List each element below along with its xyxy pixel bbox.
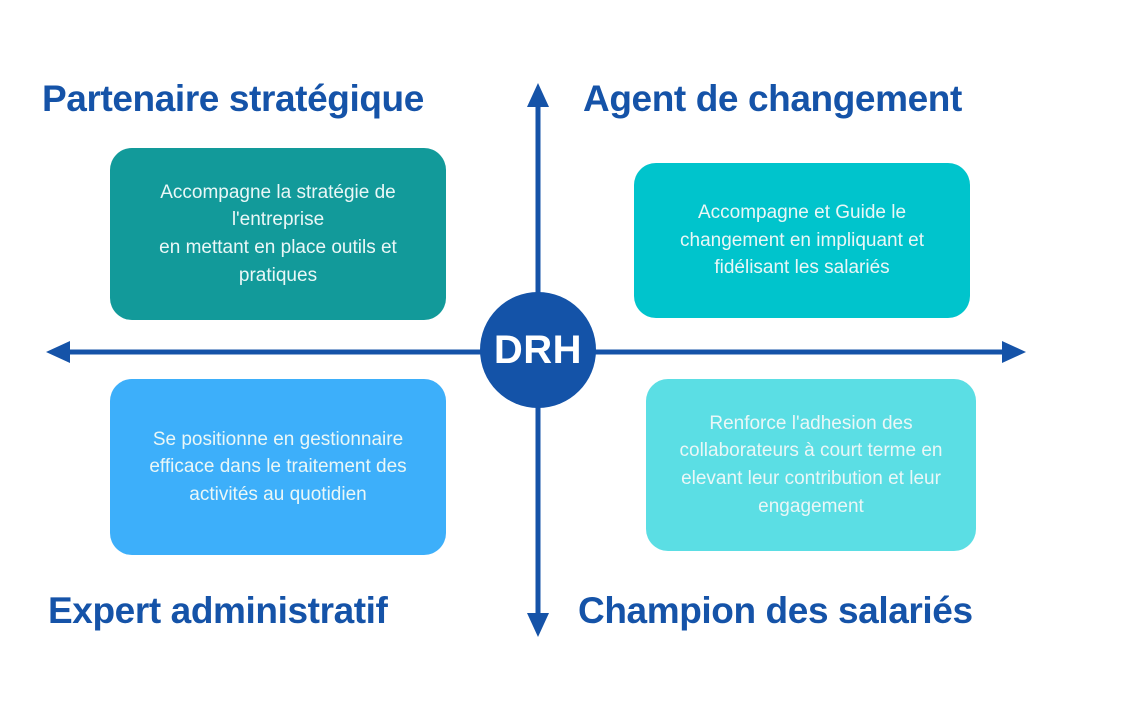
quadrant-box-top-left: Accompagne la stratégie de l'entreprise … [110, 148, 446, 320]
center-node-label: DRH [494, 330, 582, 370]
arrow-right-icon [1002, 341, 1026, 363]
quadrant-box-top-right: Accompagne et Guide le changement en imp… [634, 163, 970, 318]
center-node-drh: DRH [480, 292, 596, 408]
quadrant-box-bottom-right: Renforce l'adhesion des collaborateurs à… [646, 379, 976, 551]
quadrant-box-text-bottom-right: Renforce l'adhesion des collaborateurs à… [660, 410, 962, 520]
quadrant-box-text-top-left: Accompagne la stratégie de l'entreprise … [124, 179, 432, 289]
arrow-down-icon [527, 613, 549, 637]
quadrant-title-bottom-left: Expert administratif [48, 592, 387, 629]
arrow-left-icon [46, 341, 70, 363]
quadrant-title-top-right: Agent de changement [583, 80, 962, 117]
quadrant-box-text-top-right: Accompagne et Guide le changement en imp… [648, 199, 956, 282]
diagram-canvas: Partenaire stratégique Agent de changeme… [0, 0, 1123, 711]
arrow-up-icon [527, 83, 549, 107]
quadrant-box-bottom-left: Se positionne en gestionnaire efficace d… [110, 379, 446, 555]
quadrant-box-text-bottom-left: Se positionne en gestionnaire efficace d… [124, 426, 432, 509]
quadrant-title-bottom-right: Champion des salariés [578, 592, 973, 629]
quadrant-title-top-left: Partenaire stratégique [42, 80, 424, 117]
